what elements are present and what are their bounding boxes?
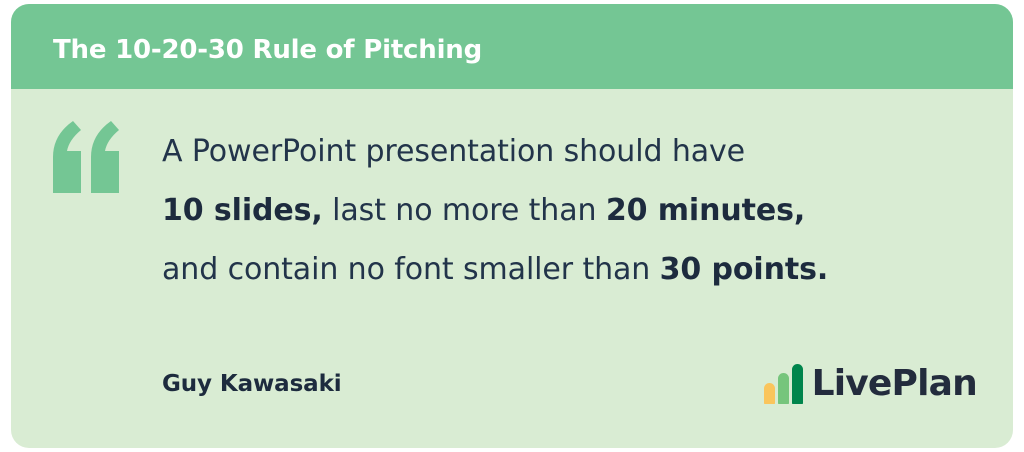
page-title: The 10-20-30 Rule of Pitching [53, 35, 482, 65]
quote-segment-bold: 30 points. [660, 252, 829, 287]
logo-bar-yellow-icon [764, 383, 775, 404]
quote-open-icon [47, 121, 125, 193]
quote-segment: and contain no font smaller than [162, 252, 660, 287]
quote-line-2: 10 slides, last no more than 20 minutes, [162, 181, 982, 240]
card-header: The 10-20-30 Rule of Pitching [11, 4, 1013, 89]
quote-segment-bold: 10 slides, [162, 193, 323, 228]
liveplan-bars-icon [764, 364, 803, 404]
quote-text: A PowerPoint presentation should have 10… [162, 122, 982, 299]
card-body: A PowerPoint presentation should have 10… [11, 89, 1013, 448]
quote-attribution: Guy Kawasaki [162, 371, 342, 397]
quote-line-3: and contain no font smaller than 30 poin… [162, 240, 982, 299]
logo-bar-dark-green-icon [792, 364, 803, 404]
quote-segment: A PowerPoint presentation should have [162, 134, 745, 169]
liveplan-logo: LivePlan [764, 364, 977, 404]
quote-segment-bold: 20 minutes, [606, 193, 805, 228]
quote-card: The 10-20-30 Rule of Pitching A PowerPoi… [11, 4, 1013, 448]
quote-line-1: A PowerPoint presentation should have [162, 122, 982, 181]
quote-segment: last no more than [323, 193, 606, 228]
liveplan-wordmark: LivePlan [812, 364, 977, 404]
logo-bar-light-green-icon [778, 373, 789, 404]
